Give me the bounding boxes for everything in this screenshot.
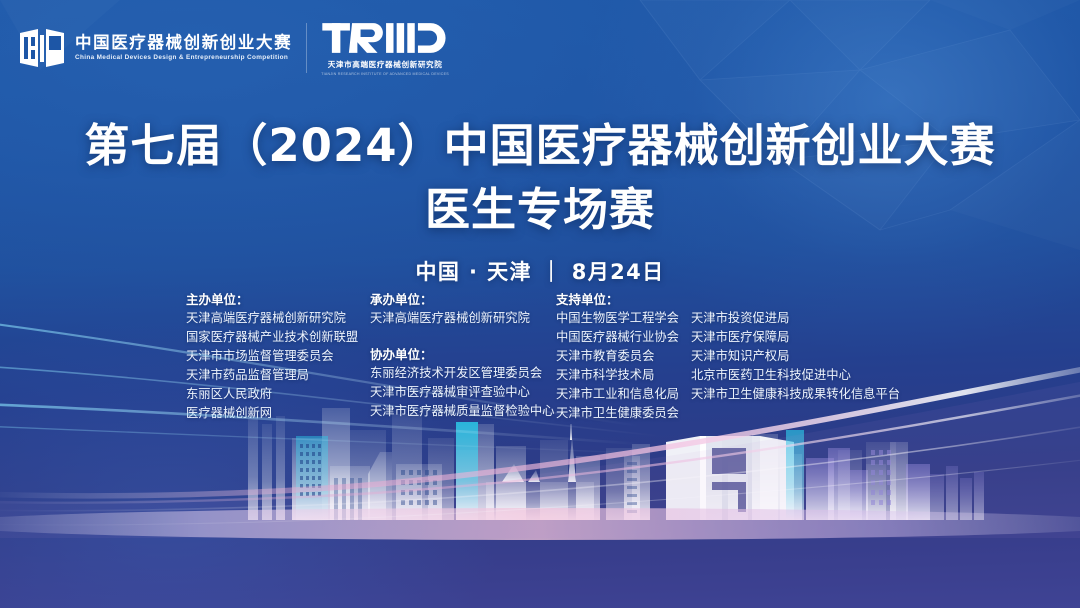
supporter-item: 天津市工业和信息化局 [556,385,691,404]
supporter-item: 天津市卫生健康委员会 [556,404,691,423]
host-item: 国家医疗器械产业技术创新联盟 [186,328,370,347]
coorganizer-item: 天津市医疗器械审评查验中心 [370,383,556,402]
organizer-block: 主办单位： 天津高端医疗器械创新研究院 国家医疗器械产业技术创新联盟 天津市市场… [186,290,946,423]
supporter-column-a: 支持单位： 中国生物医学工程学会 中国医疗器械行业协会 天津市教育委员会 天津市… [556,290,691,423]
host-column: 主办单位： 天津高端医疗器械创新研究院 国家医疗器械产业技术创新联盟 天津市市场… [186,290,370,423]
supporter-heading: 支持单位： [556,290,691,309]
column-spacer [370,328,556,345]
supporter-item: 天津市知识产权局 [691,347,900,366]
host-item: 天津市市场监督管理委员会 [186,347,370,366]
supporter-item: 天津市投资促进局 [691,309,900,328]
poster-title: 第七届（2024）中国医疗器械创新创业大赛 医生专场赛 [0,118,1080,238]
coorganizer-item: 天津市医疗器械质量监督检验中心 [370,402,556,421]
competition-logo-en: China Medical Devices Design & Entrepren… [75,55,292,62]
competition-logo: 中国医疗器械创新创业大赛 China Medical Devices Desig… [18,26,292,70]
host-item: 天津高端医疗器械创新研究院 [186,309,370,328]
title-line-2: 医生专场赛 [0,182,1080,238]
supporter-column-b-spacer [691,290,900,309]
host-item: 医疗器械创新网 [186,404,370,423]
competition-logo-cn: 中国医疗器械创新创业大赛 [75,35,292,52]
supporter-item: 天津市科学技术局 [556,366,691,385]
supporter-column-b: 天津市投资促进局 天津市医疗保障局 天津市知识产权局 北京市医药卫生科技促进中心… [691,290,900,404]
open-door-book-mark-icon [18,26,66,70]
supporter-item: 天津市卫生健康科技成果转化信息平台 [691,385,900,404]
host-item: 东丽区人民政府 [186,385,370,404]
supporter-item: 中国医疗器械行业协会 [556,328,691,347]
supporter-item: 天津市教育委员会 [556,347,691,366]
institute-logo: 天津市高端医疗器械创新研究院 TIANJIN RESEARCH INSTITUT… [321,21,449,76]
undertaker-column: 承办单位： 天津高端医疗器械创新研究院 协办单位： 东丽经济技术开发区管理委员会… [370,290,556,421]
supporter-item: 中国生物医学工程学会 [556,309,691,328]
header-divider [306,23,307,73]
coorganizer-item: 东丽经济技术开发区管理委员会 [370,364,556,383]
event-location-date: 中国 · 天津 ｜ 8月24日 [0,256,1080,286]
undertaker-item: 天津高端医疗器械创新研究院 [370,309,556,328]
host-heading: 主办单位： [186,290,370,309]
coorganizer-heading: 协办单位： [370,345,556,364]
institute-logo-en: TIANJIN RESEARCH INSTITUTE OF ADVANCED M… [321,72,449,76]
poster-header: 中国医疗器械创新创业大赛 China Medical Devices Desig… [0,0,1080,96]
host-item: 天津市药品监督管理局 [186,366,370,385]
supporter-item: 北京市医药卫生科技促进中心 [691,366,900,385]
undertaker-heading: 承办单位： [370,290,556,309]
event-poster: 中国医疗器械创新创业大赛 China Medical Devices Desig… [0,0,1080,608]
supporter-item: 天津市医疗保障局 [691,328,900,347]
trimd-wordmark-icon [322,21,448,55]
title-line-1: 第七届（2024）中国医疗器械创新创业大赛 [0,118,1080,174]
institute-logo-cn: 天津市高端医疗器械创新研究院 [328,59,443,70]
